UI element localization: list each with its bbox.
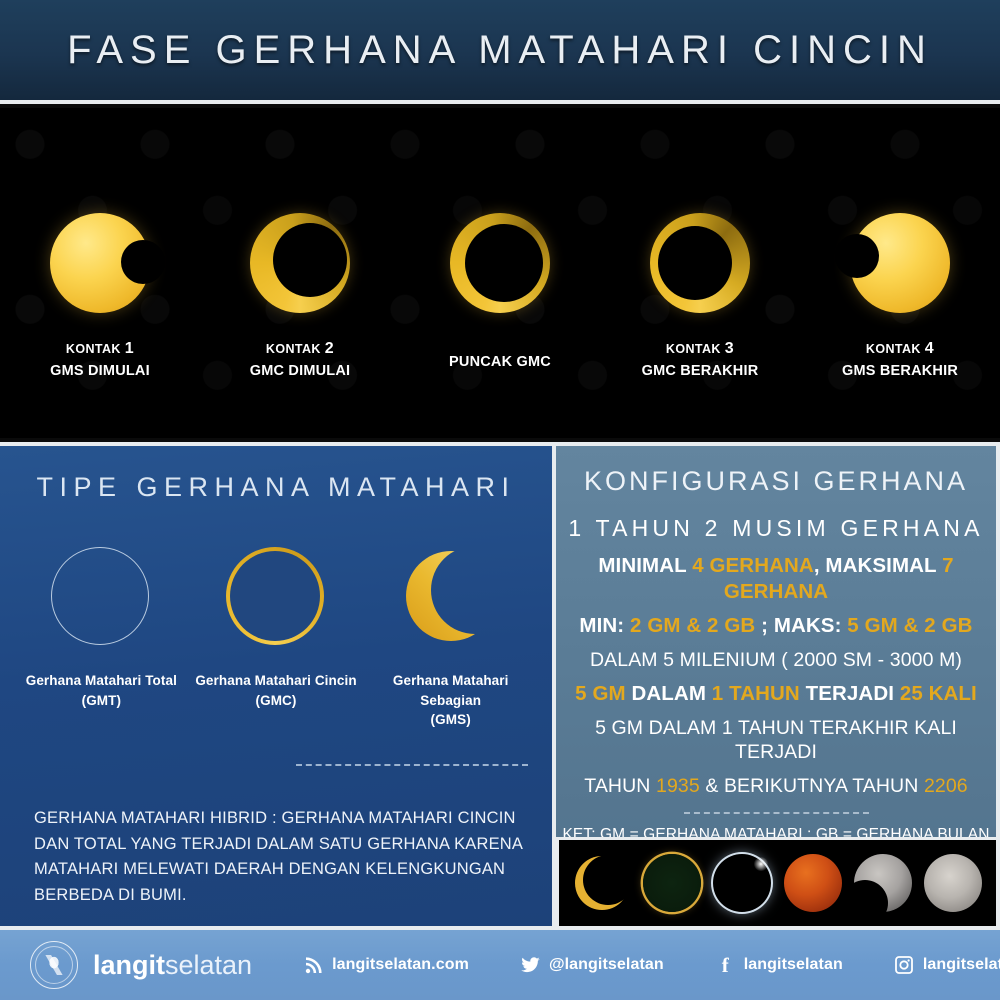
dashed-divider bbox=[296, 764, 528, 766]
phase-item-4: KONTAK 3 GMC BERAKHIR bbox=[600, 108, 800, 381]
annular-ring-1-icon bbox=[241, 204, 359, 322]
social-facebook[interactable]: f langitselatan bbox=[716, 956, 843, 975]
full-moon-photo bbox=[924, 854, 982, 912]
gold-crescent-icon bbox=[399, 545, 503, 649]
page-title: FASE GERHANA MATAHARI CINCIN bbox=[67, 28, 933, 73]
phase-kontak-number: 1 bbox=[125, 340, 134, 357]
config-line-terakhir-2: TAHUN 1935 & BERIKUTNYA TAHUN 2206 bbox=[556, 774, 996, 798]
phase-item-1: KONTAK 1 GMS DIMULAI bbox=[0, 108, 200, 381]
highlight-value: 5 GM bbox=[575, 682, 626, 705]
phase-sublabel: GMS BERAKHIR bbox=[842, 361, 958, 382]
config-line-min-maks: MIN: 2 GM & 2 GB ; MAKS: 5 GM & 2 GB bbox=[556, 613, 996, 639]
config-line-5gm: 5 GM DALAM 1 TAHUN TERJADI 25 KALI bbox=[556, 681, 996, 707]
annular-crescent-photo bbox=[573, 854, 631, 912]
eclipse-type-abbr: (GMC) bbox=[195, 691, 356, 711]
phase-item-3: PUNCAK GMC bbox=[400, 108, 600, 373]
rss-icon bbox=[304, 956, 323, 975]
social-twitter[interactable]: @langitselatan bbox=[521, 956, 664, 975]
brand-logo[interactable]: langitselatan bbox=[30, 941, 252, 989]
highlight-year: 1935 bbox=[656, 775, 700, 797]
twitter-icon bbox=[521, 956, 540, 975]
phase-sublabel: GMC DIMULAI bbox=[250, 361, 350, 382]
outline-circle-icon bbox=[49, 545, 153, 649]
header-bar: FASE GERHANA MATAHARI CINCIN bbox=[0, 0, 1000, 104]
eclipse-types-list: Gerhana Matahari Total (GMT) Gerhana Mat… bbox=[0, 545, 552, 730]
instagram-icon bbox=[895, 956, 914, 975]
phase-kontak-label: KONTAK 1 bbox=[50, 338, 150, 361]
footer-bar: langitselatan langitselatan.com bbox=[0, 930, 1000, 1000]
highlight-year: 2206 bbox=[924, 775, 968, 797]
eclipse-type-abbr: (GMS) bbox=[363, 710, 538, 730]
social-website[interactable]: langitselatan.com bbox=[304, 956, 469, 975]
social-label: langitselatan bbox=[744, 956, 843, 974]
configuration-title: KONFIGURASI GERHANA bbox=[556, 466, 996, 497]
eclipse-configuration-panel: KONFIGURASI GERHANA 1 TAHUN 2 MUSIM GERH… bbox=[556, 442, 1000, 840]
phase-kontak-number: 2 bbox=[325, 340, 334, 357]
eclipse-type-name: Gerhana Matahari Total bbox=[26, 671, 177, 691]
brand-name-bold: langit bbox=[93, 950, 165, 980]
highlight-value: 5 GM & 2 GB bbox=[847, 614, 972, 637]
configuration-subtitle: 1 TAHUN 2 MUSIM GERHANA bbox=[556, 515, 996, 542]
legend-note: KET: GM = GERHANA MATAHARI ; GB = GERHAN… bbox=[556, 826, 996, 840]
gold-ring-icon bbox=[224, 545, 328, 649]
eclipse-type-gmc: Gerhana Matahari Cincin (GMC) bbox=[189, 545, 364, 730]
eclipse-types-title: TIPE GERHANA MATAHARI bbox=[0, 472, 552, 503]
config-line-milenium: DALAM 5 MILENIUM ( 2000 SM - 3000 M) bbox=[556, 648, 996, 672]
social-instagram[interactable]: langitselatanmedia bbox=[895, 956, 1000, 975]
config-line-terakhir-1: 5 GM DALAM 1 TAHUN TERAKHIR KALI TERJADI bbox=[556, 716, 996, 765]
highlight-value: 4 GERHANA bbox=[692, 554, 814, 577]
phase-kontak-number: 3 bbox=[725, 340, 734, 357]
eclipse-type-name: Gerhana Matahari Cincin bbox=[195, 671, 356, 691]
langitselatan-seal-icon bbox=[30, 941, 78, 989]
eclipse-type-name: Gerhana Matahari Sebagian bbox=[363, 671, 538, 710]
eclipse-phases-section: KONTAK 1 GMS DIMULAI KONTAK 2 GMC DIMULA… bbox=[0, 108, 1000, 438]
phase-sublabel: GMC BERAKHIR bbox=[642, 361, 759, 382]
social-label: langitselatanmedia bbox=[923, 956, 1000, 974]
phase-sublabel: PUNCAK GMC bbox=[449, 352, 551, 373]
phase-sublabel: GMS DIMULAI bbox=[50, 361, 150, 382]
eclipse-type-gmt: Gerhana Matahari Total (GMT) bbox=[14, 545, 189, 730]
brand-name: langitselatan bbox=[93, 952, 252, 979]
phase-kontak-label: KONTAK 2 bbox=[250, 338, 350, 361]
highlight-value: 1 TAHUN bbox=[712, 682, 800, 705]
dashed-divider bbox=[684, 812, 869, 814]
infographic-page: FASE GERHANA MATAHARI CINCIN KONTAK 1 GM… bbox=[0, 0, 1000, 1000]
annular-ring-2-icon bbox=[441, 204, 559, 322]
phase-item-5: KONTAK 4 GMS BERAKHIR bbox=[800, 108, 1000, 381]
blood-moon-photo bbox=[784, 854, 842, 912]
config-line-minimal: MINIMAL 4 GERHANA, MAKSIMAL 7 GERHANA bbox=[556, 553, 996, 604]
annular-eclipse-photo bbox=[643, 854, 701, 912]
phase-kontak-label: KONTAK 3 bbox=[642, 338, 759, 361]
brand-name-light: selatan bbox=[165, 950, 252, 980]
highlight-value: 2 GM & 2 GB bbox=[630, 614, 755, 637]
partial-sun-right-bite-icon bbox=[41, 204, 159, 322]
annular-ring-3-icon bbox=[641, 204, 759, 322]
eclipse-types-panel: TIPE GERHANA MATAHARI Gerhana Matahari T… bbox=[0, 442, 556, 930]
social-label: @langitselatan bbox=[549, 956, 664, 974]
eclipse-photo-strip bbox=[556, 840, 1000, 930]
facebook-icon: f bbox=[716, 956, 735, 975]
hybrid-eclipse-text: GERHANA MATAHARI HIBRID : GERHANA MATAHA… bbox=[34, 806, 526, 908]
eclipse-type-abbr: (GMT) bbox=[26, 691, 177, 711]
social-links: langitselatan.com @langitselatan f langi… bbox=[252, 956, 1000, 975]
total-solar-corona-photo bbox=[713, 854, 771, 912]
phase-kontak-number: 4 bbox=[925, 340, 934, 357]
highlight-value: 25 KALI bbox=[900, 682, 977, 705]
phase-kontak-label: KONTAK 4 bbox=[842, 338, 958, 361]
partial-sun-left-bite-icon bbox=[841, 204, 959, 322]
phase-item-2: KONTAK 2 GMC DIMULAI bbox=[200, 108, 400, 381]
partial-lunar-photo bbox=[854, 854, 912, 912]
social-label: langitselatan.com bbox=[332, 956, 469, 974]
eclipse-type-gms: Gerhana Matahari Sebagian (GMS) bbox=[363, 545, 538, 730]
